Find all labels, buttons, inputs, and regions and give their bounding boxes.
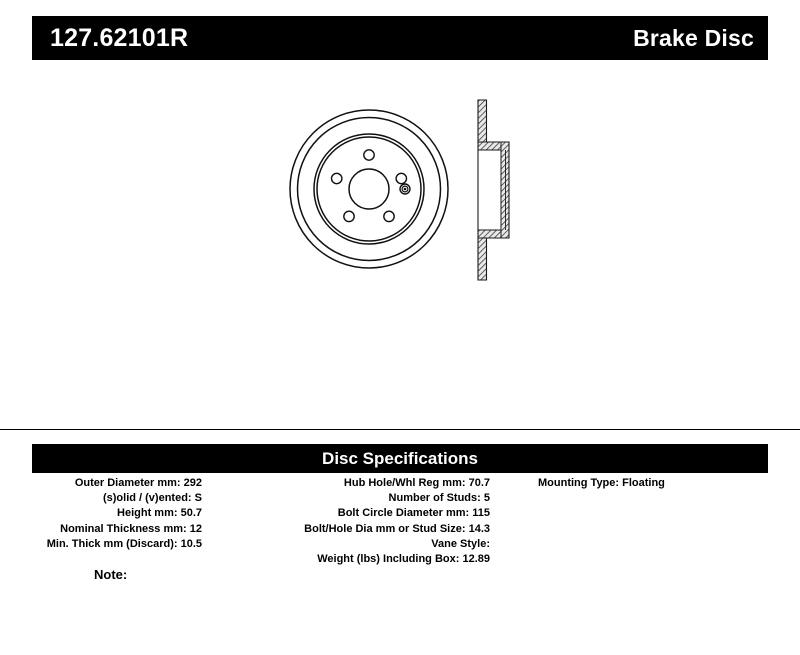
brake-disc-profile-icon <box>470 92 530 288</box>
spec-value: 12 <box>190 523 202 535</box>
spec-column-middle: Hub Hole/Whl Reg mm: 70.7 Number of Stud… <box>230 476 500 567</box>
spec-value: Floating <box>622 477 665 489</box>
spec-value: 50.7 <box>181 507 202 519</box>
spec-row: Vane Style: <box>230 537 490 552</box>
spec-label: Outer Diameter mm: <box>75 477 181 489</box>
product-title: Brake Disc <box>633 27 754 50</box>
spec-section-bar: Disc Specifications <box>32 444 768 473</box>
section-divider <box>0 429 800 430</box>
spec-label: Mounting Type: <box>538 477 619 489</box>
spec-label: Bolt Circle Diameter mm: <box>338 507 469 519</box>
spec-row: Min. Thick mm (Discard): 10.5 <box>0 537 202 552</box>
spec-value: 5 <box>484 492 490 504</box>
spec-value: 12.89 <box>462 553 490 565</box>
spec-label: Vane Style: <box>431 538 490 550</box>
spec-row: Number of Studs: 5 <box>230 491 490 506</box>
product-drawing-area <box>0 70 800 420</box>
spec-label: Min. Thick mm (Discard): <box>47 538 178 550</box>
spec-label: Number of Studs: <box>389 492 481 504</box>
spec-label: Bolt/Hole Dia mm or Stud Size: <box>304 523 465 535</box>
spec-row: Mounting Type: Floating <box>538 476 800 491</box>
header-bar: 127.62101R Brake Disc <box>32 16 768 60</box>
part-number: 127.62101R <box>50 26 188 51</box>
spec-label: (s)olid / (v)ented: <box>103 492 192 504</box>
spec-row: Weight (lbs) Including Box: 12.89 <box>230 552 490 567</box>
spec-value: S <box>195 492 202 504</box>
spec-value: 292 <box>184 477 202 489</box>
spec-label: Weight (lbs) Including Box: <box>317 553 459 565</box>
retaining-screw-hole <box>400 184 410 194</box>
spec-row: Hub Hole/Whl Reg mm: 70.7 <box>230 476 490 491</box>
specifications-table: Outer Diameter mm: 292 (s)olid / (v)ente… <box>0 476 800 567</box>
spec-value: 70.7 <box>469 477 490 489</box>
spec-row: (s)olid / (v)ented: S <box>0 491 202 506</box>
spec-label: Height mm: <box>117 507 178 519</box>
spec-label: Hub Hole/Whl Reg mm: <box>344 477 466 489</box>
spec-value: 115 <box>472 507 490 519</box>
spec-label: Nominal Thickness mm: <box>60 523 187 535</box>
note-label: Note: <box>94 567 127 582</box>
spec-row: Bolt Circle Diameter mm: 115 <box>230 506 490 521</box>
spec-value: 10.5 <box>181 538 202 550</box>
spec-row: Height mm: 50.7 <box>0 506 202 521</box>
spec-section-title: Disc Specifications <box>322 450 478 467</box>
note-block: Note: <box>94 567 135 582</box>
spec-row: Outer Diameter mm: 292 <box>0 476 202 491</box>
spec-row: Nominal Thickness mm: 12 <box>0 522 202 537</box>
spec-column-right: Mounting Type: Floating <box>500 476 800 491</box>
brake-disc-face-icon <box>288 108 450 270</box>
spec-value: 14.3 <box>469 523 490 535</box>
spec-column-left: Outer Diameter mm: 292 (s)olid / (v)ente… <box>0 476 230 552</box>
spec-row: Bolt/Hole Dia mm or Stud Size: 14.3 <box>230 522 490 537</box>
